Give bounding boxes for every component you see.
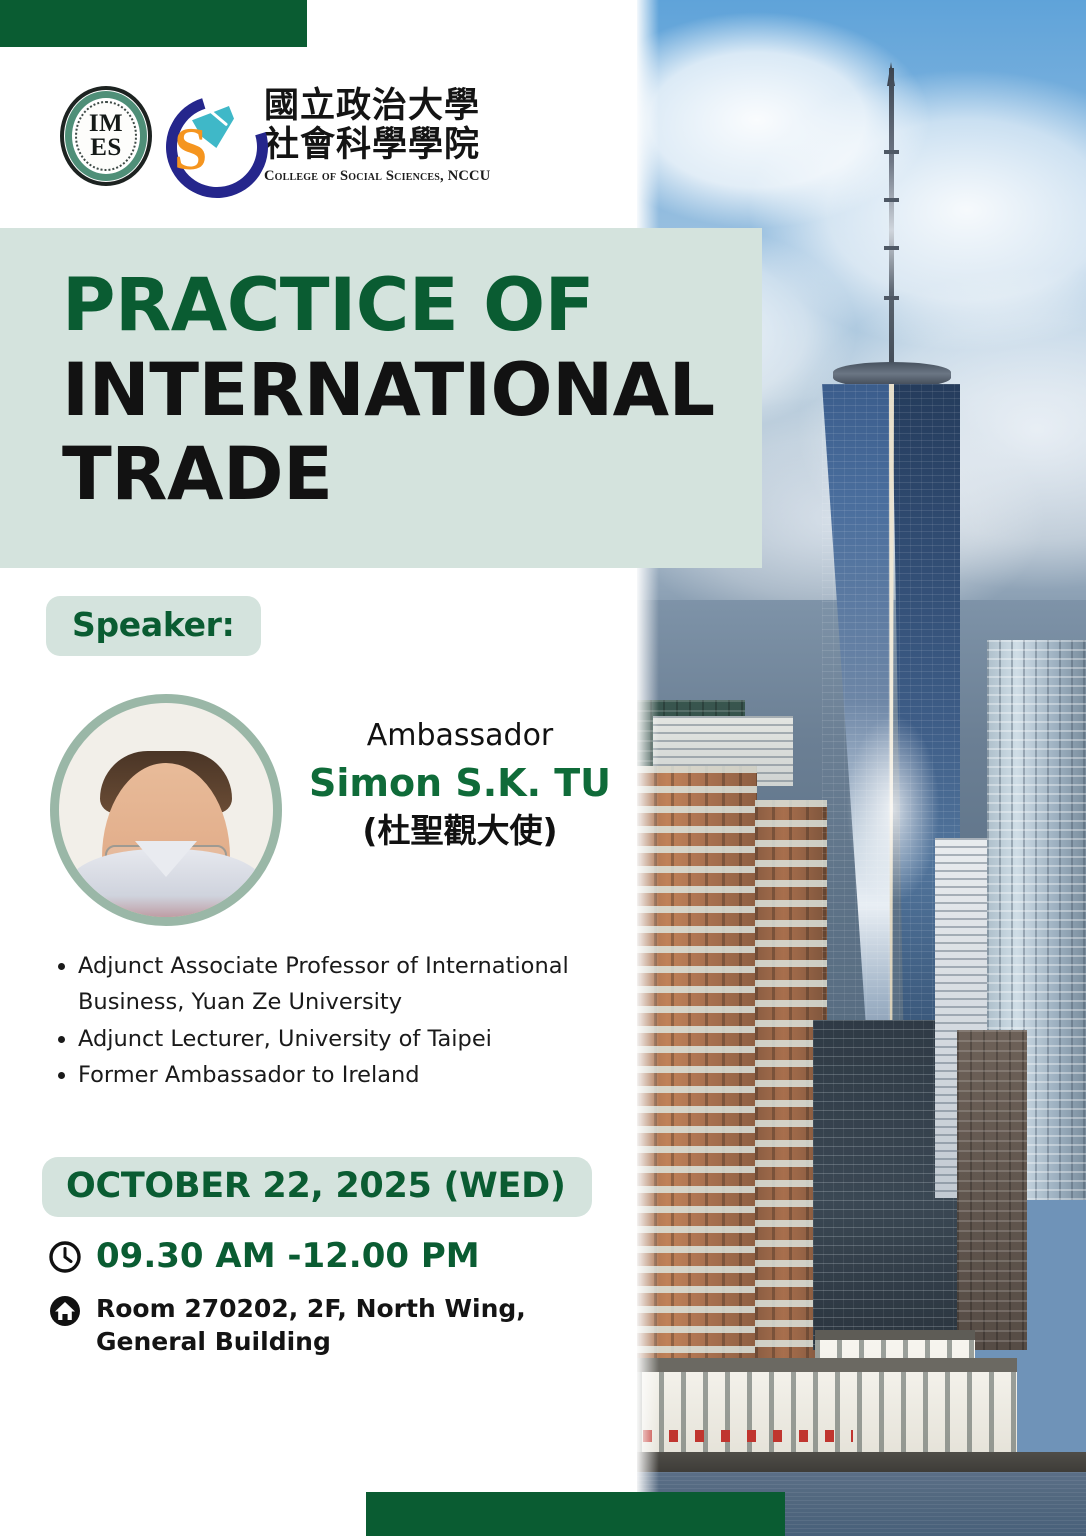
event-time: 09.30 AM -12.00 PM [96,1238,480,1275]
home-icon [48,1294,82,1328]
red-awnings [643,1430,853,1442]
event-time-row: 09.30 AM -12.00 PM [48,1238,480,1275]
speaker-badge-label: Speaker: [72,605,235,644]
tower-spire [889,68,894,380]
list-item: Adjunct Associate Professor of Internati… [78,948,601,1021]
imes-initials-line1: IM [89,112,123,136]
nccu-chinese-line1: 國立政治大學 [264,87,490,126]
imes-initials-line2: ES [90,136,122,160]
speaker-name: Simon S.K. TU [300,759,620,808]
bottom-green-bar [366,1492,785,1536]
event-poster: IM ES S 國立政治大學 社會科學學院 College of Social … [0,0,1086,1536]
nccu-chinese-line2: 社會科學學院 [264,126,490,165]
pier-shed [637,1372,1017,1464]
event-location-row: Room 270202, 2F, North Wing, General Bui… [48,1292,608,1358]
event-date-badge: OCTOBER 22, 2025 (WED) [42,1157,592,1217]
list-item: Adjunct Lecturer, University of Taipei [78,1021,601,1057]
nccu-compass-icon: S [166,96,246,176]
spire-ring [884,198,899,202]
spire-ring [884,296,899,300]
page-title-line2: INTERNATIONAL [62,349,762,434]
clock-icon [48,1240,82,1274]
avatar [50,694,282,926]
speaker-details: Ambassador Simon S.K. TU (杜聖觀大使) [300,716,620,852]
logo-row: IM ES S 國立政治大學 社會科學學院 College of Social … [60,86,490,186]
speaker-badge: Speaker: [46,596,261,656]
brown-tower [957,1030,1027,1350]
list-item: Former Ambassador to Ireland [78,1057,601,1093]
event-location: Room 270202, 2F, North Wing, General Bui… [96,1292,608,1358]
event-date: OCTOBER 22, 2025 (WED) [66,1166,566,1206]
spire-ring [884,150,899,154]
spire-ring [884,246,899,250]
title-band: PRACTICE OF INTERNATIONAL TRADE [0,228,762,568]
speaker-name-chinese: (杜聖觀大使) [300,810,620,851]
top-green-bar [0,0,307,47]
imes-seal-icon: IM ES [60,86,152,186]
page-title-line3: TRADE [62,433,762,518]
speaker-role: Ambassador [300,716,620,755]
nccu-wordmark: 國立政治大學 社會科學學院 College of Social Sciences… [264,87,490,185]
nccu-english-name: College of Social Sciences, NCCU [264,168,490,185]
page-title-line1: PRACTICE OF [62,264,762,349]
speaker-bio: Adjunct Associate Professor of Internati… [56,948,601,1094]
